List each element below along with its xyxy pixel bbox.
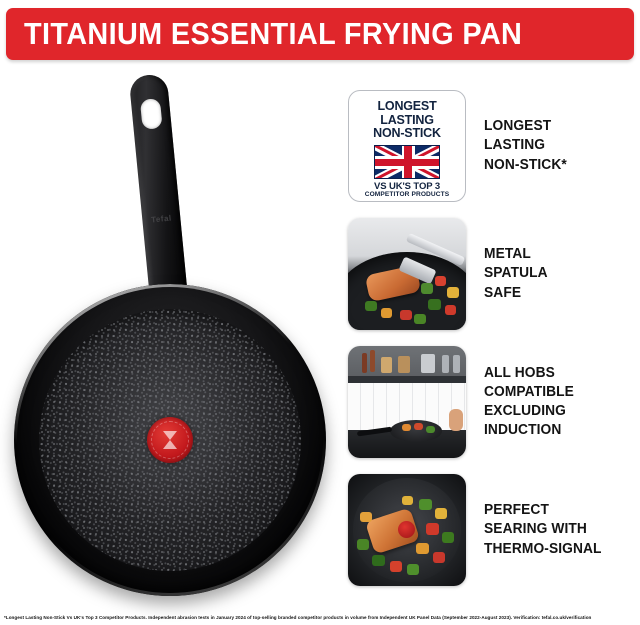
pan-interior (39, 309, 301, 571)
longest-lasting-badge: LONGEST LASTING NON-STICK VS UK'S TOP 3 … (348, 90, 466, 202)
feature-row-longest-lasting-non-stick: LONGEST LASTING NON-STICK VS UK'S TOP 3 … (348, 82, 640, 210)
feature-label-all-hobs-compatible: ALL HOBS COMPATIBLE EXCLUDING INDUCTION (484, 364, 574, 441)
feature-label-longest-lasting-non-stick: LONGEST LASTING NON-STICK* (484, 117, 567, 174)
feature-row-perfect-searing: PERFECT SEARING WITH THERMO-SIGNAL (348, 466, 640, 594)
metal-spatula-photo (348, 218, 466, 330)
page-title: TITANIUM ESSENTIAL FRYING PAN (24, 16, 522, 52)
header-banner: TITANIUM ESSENTIAL FRYING PAN (6, 8, 634, 60)
all-hobs-photo (348, 346, 466, 458)
feature-label-metal-spatula-safe: METAL SPATULA SAFE (484, 245, 548, 302)
badge-sub-2: COMPETITOR PRODUCTS (355, 192, 459, 199)
feature-label-perfect-searing: PERFECT SEARING WITH THERMO-SIGNAL (484, 501, 602, 558)
pan-body (14, 284, 326, 596)
footer-disclaimer: *Longest Lasting Non-Stick Vs UK's Top 3… (4, 615, 636, 621)
badge-line-3: NON-STICK (355, 127, 459, 141)
thermo-spot-icon (398, 521, 415, 538)
badge-line-1: LONGEST (355, 100, 459, 114)
thermo-spot-indicator (147, 417, 193, 463)
handle-hanging-hole (140, 98, 163, 130)
product-image: Tefal (0, 62, 340, 602)
feature-row-metal-spatula-safe: METAL SPATULA SAFE (348, 210, 640, 338)
badge-sub-1: VS UK'S TOP 3 (355, 182, 459, 192)
brand-logo: Tefal (142, 213, 181, 226)
uk-flag-icon (374, 145, 440, 179)
perfect-searing-photo (348, 474, 466, 586)
feature-row-all-hobs-compatible: ALL HOBS COMPATIBLE EXCLUDING INDUCTION (348, 338, 640, 466)
feature-list: LONGEST LASTING NON-STICK VS UK'S TOP 3 … (348, 82, 640, 594)
thermo-hourglass-icon (163, 431, 177, 449)
badge-line-2: LASTING (355, 114, 459, 128)
